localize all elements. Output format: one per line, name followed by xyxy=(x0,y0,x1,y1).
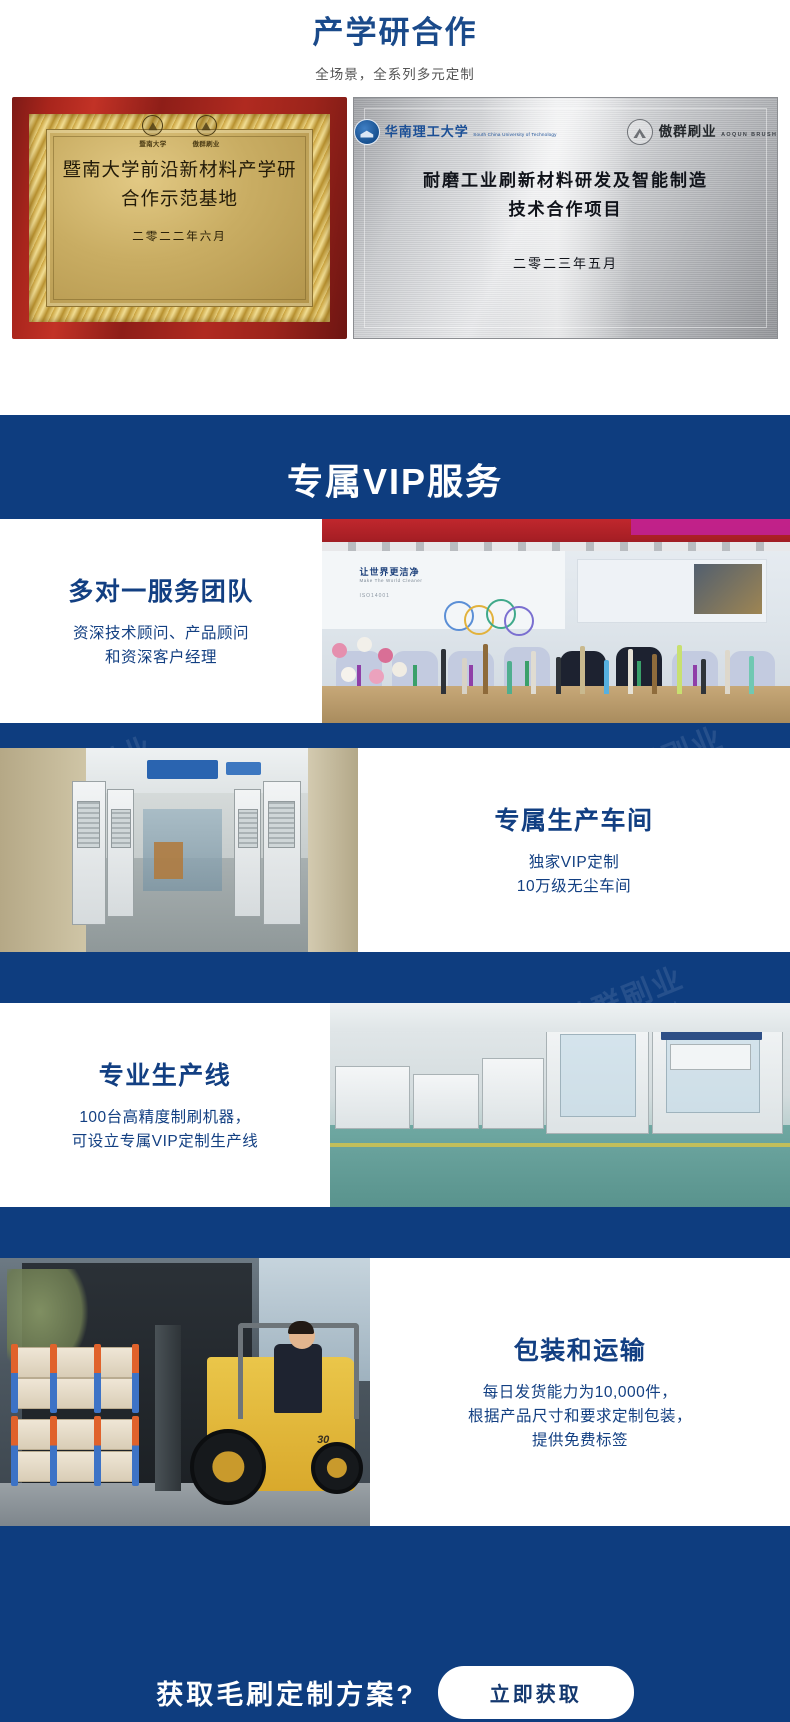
silver-plaque-image: 华南理工大学 South China University of Technol… xyxy=(353,97,778,339)
gold-logo-right-label: 傲群刷业 xyxy=(193,138,220,148)
vip-card-4-line-3: 提供免费标签 xyxy=(532,1429,628,1453)
jinan-university-logo-icon xyxy=(142,115,163,136)
silver-plaque-date: 二零二三年五月 xyxy=(513,253,618,272)
silver-plaque-line2: 技术合作项目 xyxy=(423,196,708,225)
clean-workshop-corridor-photo xyxy=(0,748,358,952)
aoqun-brush-logo-icon xyxy=(196,115,217,136)
vip-card-4-line-1: 每日发货能力为10,000件， xyxy=(483,1381,677,1405)
get-quote-button[interactable]: 立即获取 xyxy=(438,1666,634,1719)
vip-section: 专属VIP服务 傲群刷业 AOQUN BRUSH 傲群刷业 AOQUN BRUS… xyxy=(0,415,790,1662)
gold-plaque-date: 二零二二年六月 xyxy=(132,228,227,244)
page-header: 产学研合作 全场景，全系列多元定制 xyxy=(0,0,790,83)
vip-card-3-line-2: 可设立专属VIP定制生产线 xyxy=(72,1130,258,1154)
aoqun-name-cn: 傲群刷业 xyxy=(659,124,717,139)
team-trade-booth-photo: 让世界更洁净 Make The World Cleaner ISO14001 xyxy=(322,519,790,723)
vip-card-4-heading: 包装和运输 xyxy=(514,1331,647,1367)
vip-card-1: 多对一服务团队 资深技术顾问、产品顾问 和资深客户经理 让世界更洁净 Make … xyxy=(0,519,790,723)
vip-card-1-line-1: 资深技术顾问、产品顾问 xyxy=(73,622,249,646)
gold-plaque-logos: 暨南大学 傲群刷业 xyxy=(139,115,219,148)
vip-card-2-line-2: 10万级无尘车间 xyxy=(517,875,631,899)
vip-card-3-line-1: 100台高精度制刷机器， xyxy=(79,1106,250,1130)
cta-question: 获取毛刷定制方案? xyxy=(156,1673,416,1712)
forklift-loading-photo: 30 xyxy=(0,1258,370,1526)
scut-seal-icon xyxy=(354,119,380,145)
vip-card-1-heading: 多对一服务团队 xyxy=(68,572,254,608)
vip-card-2: 专属生产车间 独家VIP定制 10万级无尘车间 xyxy=(0,748,790,952)
silver-plaque-logos: 华南理工大学 South China University of Technol… xyxy=(354,119,778,145)
gold-logo-left-label: 暨南大学 xyxy=(139,138,166,148)
booth-iso-label: ISO14001 xyxy=(359,593,390,599)
plaque-gallery: 暨南大学 傲群刷业 暨南大学前沿新材料产学研 合作示范基地 二零二二年六月 xyxy=(0,97,790,339)
vip-card-3-text: 专业生产线 100台高精度制刷机器， 可设立专属VIP定制生产线 xyxy=(0,1003,330,1207)
gold-plaque-line2: 合作示范基地 xyxy=(121,185,238,214)
aoqun-name-en: AOQUN BRUSH xyxy=(721,132,777,138)
vip-section-title: 专属VIP服务 xyxy=(0,415,790,505)
cta-bar: 获取毛刷定制方案? 立即获取 xyxy=(0,1662,790,1722)
aoqun-brush-logo-icon xyxy=(627,119,653,145)
scut-name-cn: 华南理工大学 xyxy=(385,124,469,139)
silver-plaque-line1: 耐磨工业刷新材料研发及智能制造 xyxy=(423,167,708,196)
scut-name-en: South China University of Technology xyxy=(473,132,556,137)
gold-plaque-image: 暨南大学 傲群刷业 暨南大学前沿新材料产学研 合作示范基地 二零二二年六月 xyxy=(12,97,347,339)
vip-card-1-text: 多对一服务团队 资深技术顾问、产品顾问 和资深客户经理 xyxy=(0,519,322,723)
vip-card-1-line-2: 和资深客户经理 xyxy=(105,646,217,670)
production-line-photo xyxy=(330,1003,790,1207)
gold-plaque-line1: 暨南大学前沿新材料产学研 xyxy=(62,156,296,185)
vip-card-4-line-2: 根据产品尺寸和要求定制包装， xyxy=(468,1405,692,1429)
page-subtitle: 全场景，全系列多元定制 xyxy=(0,63,790,83)
vip-card-2-text: 专属生产车间 独家VIP定制 10万级无尘车间 xyxy=(358,748,790,952)
vip-card-4: 30 包装和运输 每日发货能力为10,000件， 根据产品尺寸和要求定制包装， … xyxy=(0,1258,790,1526)
vip-card-3: 专业生产线 100台高精度制刷机器， 可设立专属VIP定制生产线 xyxy=(0,1003,790,1207)
vip-card-2-heading: 专属生产车间 xyxy=(494,801,653,837)
vip-card-4-text: 包装和运输 每日发货能力为10,000件， 根据产品尺寸和要求定制包装， 提供免… xyxy=(370,1258,790,1526)
booth-slogan: 让世界更洁净 Make The World Cleaner xyxy=(359,565,422,583)
vip-card-3-heading: 专业生产线 xyxy=(99,1056,232,1092)
page-title: 产学研合作 xyxy=(0,14,790,51)
page-root: 产学研合作 全场景，全系列多元定制 暨南大学 傲群刷业 暨南大学 xyxy=(0,0,790,1722)
vip-card-2-line-1: 独家VIP定制 xyxy=(529,851,619,875)
